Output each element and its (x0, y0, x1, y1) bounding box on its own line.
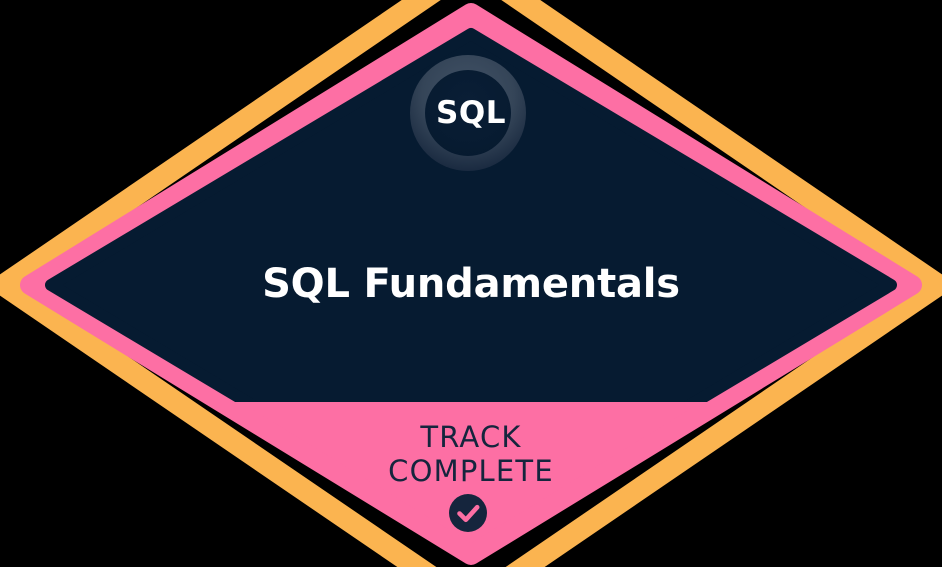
track-logo-label: SQL (0, 93, 942, 133)
check-circle-icon (449, 494, 487, 532)
status-line-track: TRACK (0, 420, 942, 454)
status-line-complete: COMPLETE (0, 454, 942, 488)
track-title: SQL Fundamentals (0, 258, 942, 310)
track-completion-badge: SQL SQL Fundamentals TRACK COMPLETE (0, 0, 942, 567)
status-block: TRACK COMPLETE (0, 420, 942, 488)
